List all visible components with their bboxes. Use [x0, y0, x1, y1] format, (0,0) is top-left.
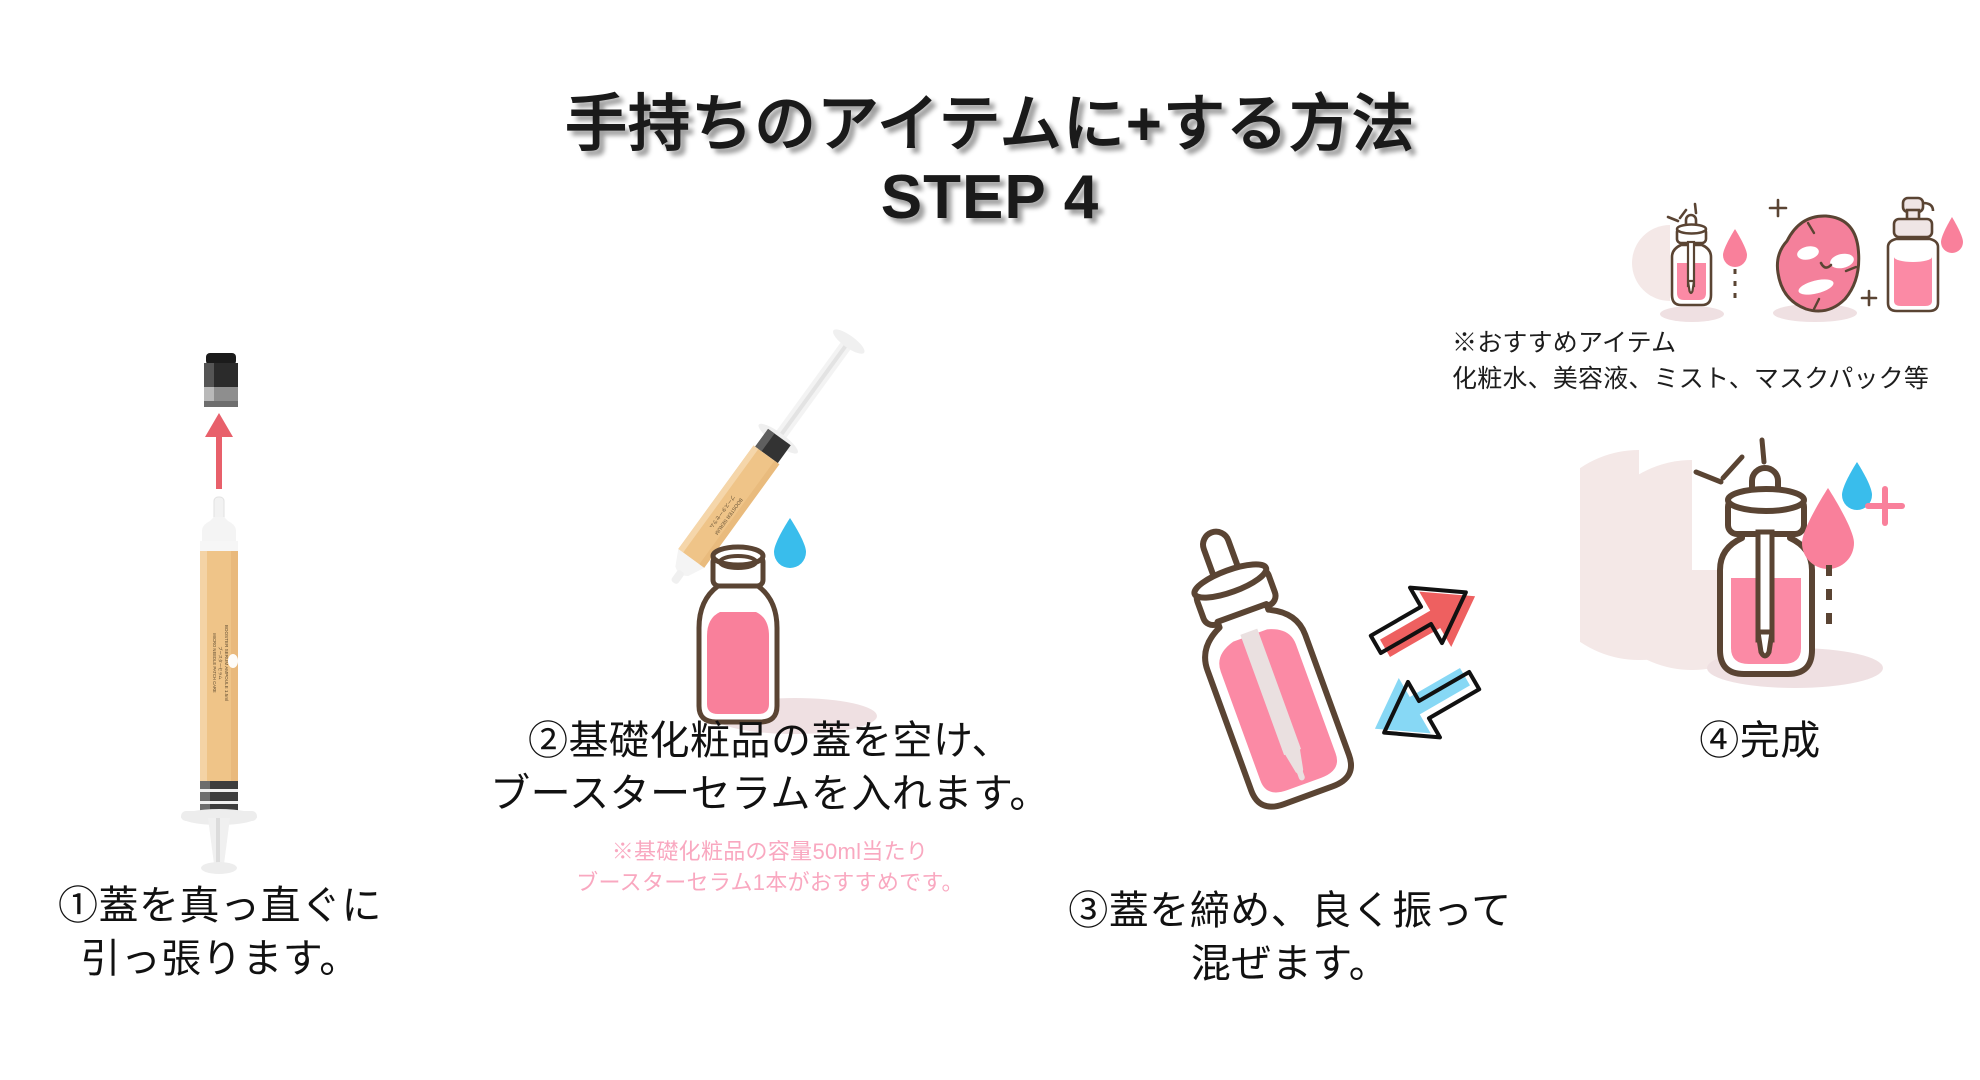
sheet-mask-icon: [1770, 200, 1859, 322]
shake-arrow-blue: [1359, 646, 1490, 763]
shake-arrow-red: [1360, 562, 1491, 679]
svg-text:ブースターセラム: ブースターセラム: [217, 646, 224, 679]
illustration-canvas: 手持ちのアイテムに+する方法 STEP 4: [0, 0, 1980, 1080]
step-1-caption: ①蓋を真っ直ぐに 引っ張ります。: [20, 880, 420, 986]
svg-text:MICRO NEEDLE PATCH CARE: MICRO NEEDLE PATCH CARE: [212, 633, 217, 693]
recommend-text: ※おすすめアイテム 化粧水、美容液、ミスト、マスクパック等: [1452, 325, 1980, 398]
title-line-primary: 手持ちのアイテムに+する方法: [0, 88, 1980, 161]
step-3-illustration: [1120, 510, 1520, 850]
step-1-illustration: BOOSTER SERUM AMPOULE 1.5ml ブースターセラム MIC…: [150, 345, 320, 845]
step-1-plunger-rod: [150, 818, 320, 878]
step-3-caption: ③蓋を締め、良く振って 混ぜます。: [1010, 885, 1570, 991]
plus-icon: [1868, 489, 1902, 523]
syringe-body-icon: BOOSTER SERUM AMPOULE 1.5ml ブースターセラム MIC…: [181, 497, 257, 825]
dropper-bottle-icon: [1660, 204, 1747, 322]
shaking-dropper-bottle-icon: [1164, 514, 1357, 813]
recommend-icons: [1630, 185, 1970, 330]
step-2-bottle-icon: [660, 520, 890, 740]
pull-up-arrow-icon: [205, 413, 233, 489]
syringe-cap-icon: [204, 353, 238, 407]
step-2-caption: ②基礎化粧品の蓋を空け、 ブースターセラムを入れます。: [420, 715, 1120, 821]
step-4-caption: ④完成: [1600, 715, 1920, 768]
step-2-note: ※基礎化粧品の容量50ml当たり ブースターセラム1本がおすすめです。: [470, 836, 1070, 898]
pump-bottle-icon: [1862, 198, 1963, 311]
step-4-illustration: [1580, 400, 1920, 710]
